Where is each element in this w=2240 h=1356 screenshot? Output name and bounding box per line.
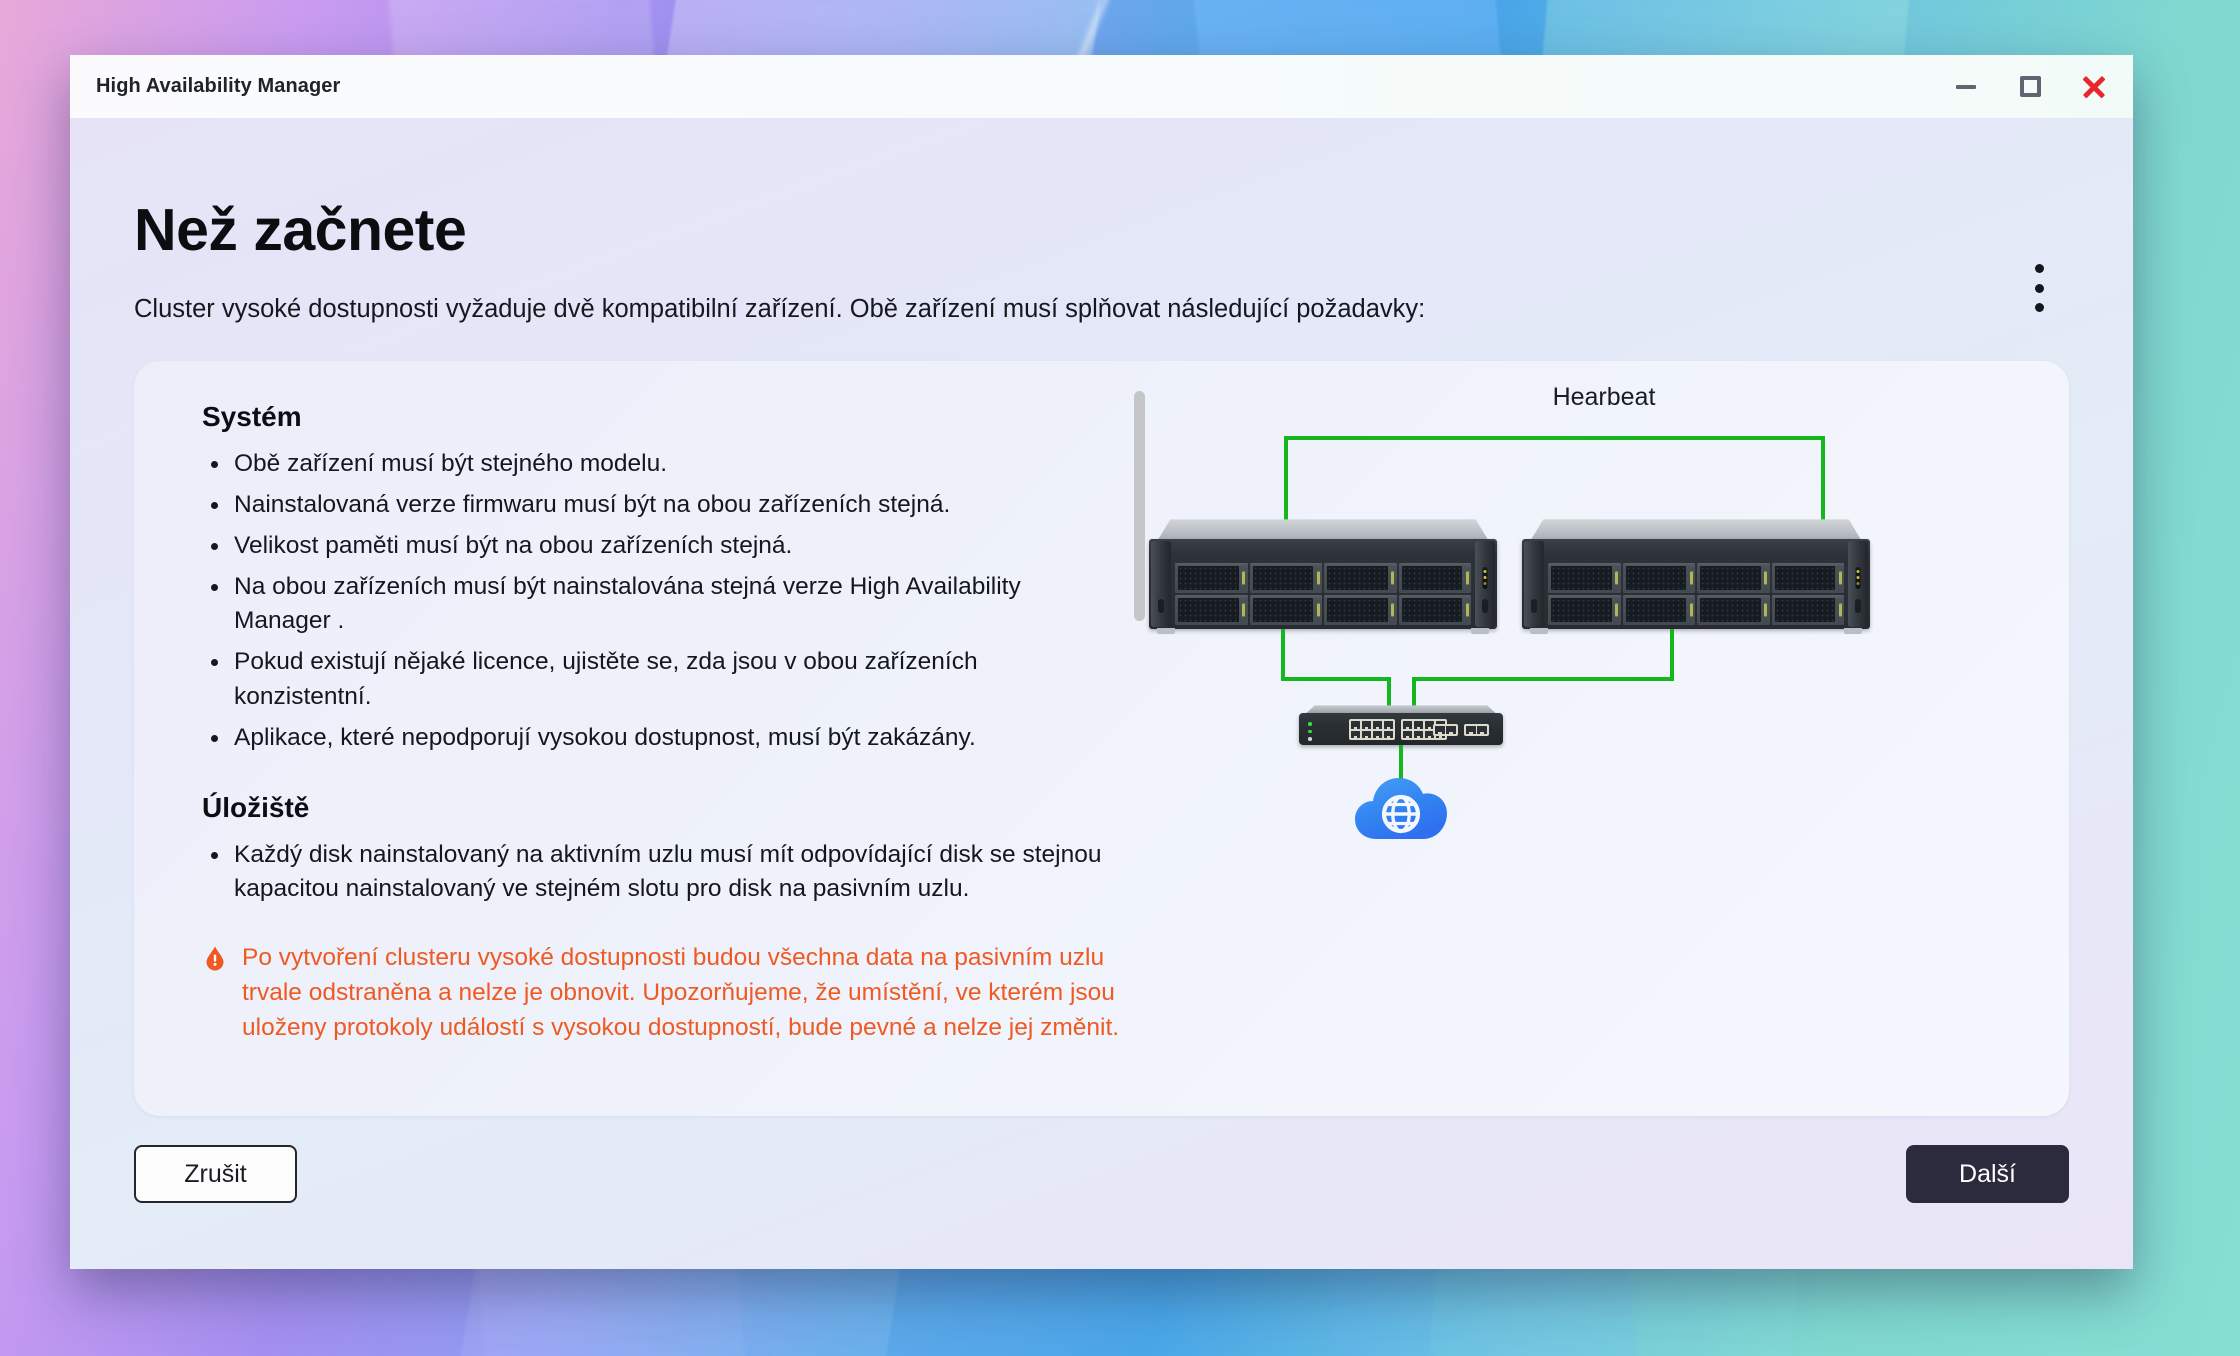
rj45-port [1362,731,1371,739]
switch-link-right-horizontal [1412,677,1674,681]
drive-led [1466,572,1469,585]
server-chassis [1522,539,1870,629]
drive-led [1391,604,1394,617]
server-ear-right [1475,541,1495,627]
next-button[interactable]: Další [1906,1145,2069,1203]
drive-led [1242,572,1245,585]
warning-block: Po vytvoření clusteru vysoké dostupnosti… [202,941,1139,1045]
drive-bay [1324,563,1397,593]
drive-mesh [1402,566,1463,590]
drive-mesh [1551,566,1612,590]
switch-port-block [1349,719,1395,740]
window-title: High Availability Manager [96,75,340,98]
kebab-menu-icon[interactable] [2017,258,2061,318]
drive-led [1466,604,1469,617]
rj45-port [1351,731,1360,739]
network-switch [1299,705,1503,745]
drive-bay [1175,563,1248,593]
rj45-port [1384,731,1393,739]
drive-led [1690,572,1693,585]
requirements-column: Systém Obě zařízení musí být stejného mo… [134,361,1139,1116]
drive-led [1317,572,1320,585]
requirement-list-system: Obě zařízení musí být stejného modelu. N… [202,447,1139,755]
rj45-port [1384,721,1393,729]
drive-led [1839,604,1842,617]
list-item: Aplikace, které nepodporují vysokou dost… [202,721,1102,756]
server-ear-right [1848,541,1868,627]
drive-mesh [1178,566,1239,590]
uplink-port [1435,726,1445,734]
switch-led [1308,737,1312,741]
window-body: Než začnete Cluster vysoké dostupnosti v… [70,118,2133,1269]
drive-bay [1623,595,1696,625]
drive-bay [1399,563,1472,593]
section-heading-system: Systém [202,401,1139,433]
switch-link-left-horizontal [1281,677,1391,681]
switch-uplink-block [1464,724,1489,736]
server-foot [1530,628,1548,634]
server-ear-left [1524,541,1544,627]
minimize-icon [1956,85,1976,89]
drive-mesh [1327,566,1388,590]
drive-bay [1250,563,1323,593]
list-item: Pokud existují nějaké licence, ujistěte … [202,645,1102,715]
heartbeat-link-right-drop [1821,436,1825,521]
drive-bay [1399,595,1472,625]
server-ear-left [1151,541,1171,627]
cancel-button[interactable]: Zrušit [134,1145,297,1203]
drive-mesh [1775,566,1836,590]
uplink-port [1477,726,1487,734]
drive-led [1839,572,1842,585]
server-foot [1844,628,1862,634]
rj45-port [1362,721,1371,729]
window-controls [1949,70,2111,104]
page-title: Než začnete [134,118,2069,262]
drive-bay [1175,595,1248,625]
drive-bay [1772,563,1845,593]
server-slot [1855,599,1861,613]
drive-bay [1250,595,1323,625]
uplink-port [1446,726,1456,734]
kebab-dot [2035,264,2044,273]
switch-link-right-drop [1670,629,1674,681]
warning-icon [202,945,228,971]
server-status-led [1483,567,1488,589]
heartbeat-link-horizontal [1284,436,1825,440]
drive-led [1391,572,1394,585]
rj45-port [1403,721,1412,729]
cloud-network [1353,773,1449,845]
drive-mesh [1253,598,1314,622]
server-slot [1482,599,1488,613]
list-item: Na obou zařízeních musí být nainstalován… [202,570,1102,640]
ha-topology-diagram: Hearbeat [1139,361,2069,1116]
server-status-led [1856,567,1861,589]
server-slot [1531,599,1537,613]
drive-mesh [1327,598,1388,622]
drive-mesh [1775,598,1836,622]
requirements-card: Systém Obě zařízení musí být stejného mo… [134,361,2069,1116]
warning-text: Po vytvoření clusteru vysoké dostupnosti… [242,941,1139,1045]
rj45-port [1414,731,1423,739]
drive-bay [1548,563,1621,593]
rj45-port [1373,721,1382,729]
drive-mesh [1700,566,1761,590]
switch-link-left-into-switch [1387,677,1391,707]
close-icon [2081,74,2107,100]
maximize-icon [2020,76,2041,97]
server-foot [1157,628,1175,634]
application-window: High Availability Manager Než začn [70,55,2133,1269]
drive-led [1690,604,1693,617]
server-node-right [1522,519,1870,629]
maximize-button[interactable] [2013,70,2047,104]
requirement-list-storage: Každý disk nainstalovaný na aktivním uzl… [202,838,1139,908]
switch-led [1308,722,1312,726]
rj45-port [1351,721,1360,729]
list-item: Každý disk nainstalovaný na aktivním uzl… [202,838,1102,908]
drive-bay [1548,595,1621,625]
switch-body [1299,713,1503,745]
section-heading-storage: Úložiště [202,792,1139,824]
server-node-left [1149,519,1497,629]
drive-bay [1772,595,1845,625]
desktop-background: High Availability Manager Než začn [0,0,2240,1356]
switch-link-right-into-switch [1412,677,1416,707]
server-top-panel [1530,519,1862,541]
switch-status-leds [1308,722,1312,741]
dialog-footer: Zrušit Další [70,1145,2133,1203]
drive-led [1764,572,1767,585]
drive-mesh [1626,566,1687,590]
drive-bay [1623,563,1696,593]
globe-icon [1381,794,1421,834]
switch-link-left-drop [1281,629,1285,681]
rj45-port [1403,731,1412,739]
heartbeat-link-left-drop [1284,436,1288,521]
list-item: Velikost paměti musí být na obou zařízen… [202,529,1102,564]
server-chassis [1149,539,1497,629]
server-slot [1158,599,1164,613]
drive-led [1317,604,1320,617]
switch-led [1308,730,1312,734]
drive-led [1615,604,1618,617]
drive-mesh [1551,598,1612,622]
switch-uplink-block [1433,724,1458,736]
page-subtitle: Cluster vysoké dostupnosti vyžaduje dvě … [134,292,2069,326]
close-button[interactable] [2077,70,2111,104]
drive-mesh [1402,598,1463,622]
drive-mesh [1178,598,1239,622]
list-item: Obě zařízení musí být stejného modelu. [202,447,1102,482]
window-titlebar: High Availability Manager [70,55,2133,118]
list-item: Nainstalovaná verze firmwaru musí být na… [202,488,1102,523]
drive-mesh [1700,598,1761,622]
drive-bay-grid [1548,563,1844,625]
kebab-dot [2035,303,2044,312]
drive-led [1615,572,1618,585]
drive-led [1242,604,1245,617]
rj45-port [1414,721,1423,729]
drive-mesh [1253,566,1314,590]
drive-bay-grid [1175,563,1471,625]
minimize-button[interactable] [1949,70,1983,104]
server-foot [1471,628,1489,634]
heartbeat-label: Hearbeat [1139,383,2069,412]
uplink-port [1466,726,1476,734]
drive-led [1764,604,1767,617]
drive-bay [1697,563,1770,593]
drive-bay [1697,595,1770,625]
rj45-port [1373,731,1382,739]
server-top-panel [1157,519,1489,541]
drive-bay [1324,595,1397,625]
drive-mesh [1626,598,1687,622]
kebab-dot [2035,284,2044,293]
